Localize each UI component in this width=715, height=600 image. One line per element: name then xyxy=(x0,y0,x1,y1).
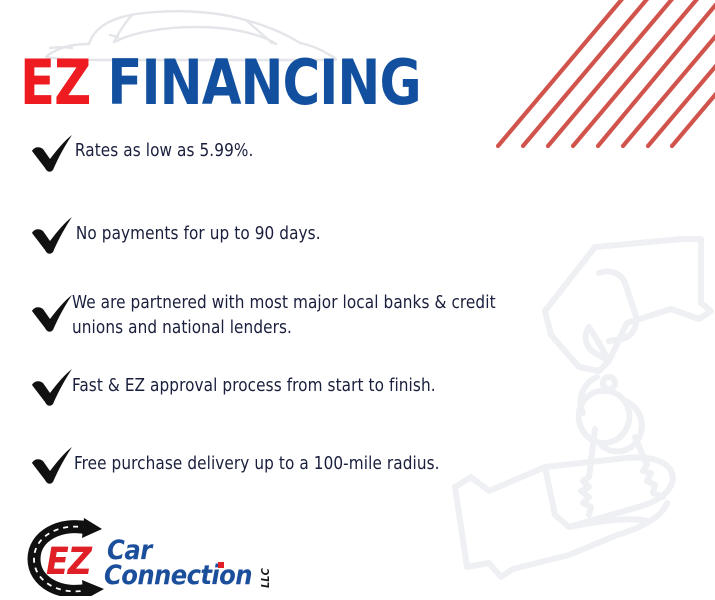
check-icon xyxy=(0,128,72,174)
list-item: Fast & EZ approval process from start to… xyxy=(0,362,540,420)
check-icon xyxy=(0,362,72,408)
logo-ez: EZ xyxy=(46,540,93,583)
list-item-text: Rates as low as 5.99%. xyxy=(72,128,526,164)
page-title: EZ FINANCING xyxy=(20,52,421,114)
list-item-text: Fast & EZ approval process from start to… xyxy=(72,362,526,399)
list-item: We are partnered with most major local b… xyxy=(0,288,540,346)
poster-canvas: EZ FINANCING Rates as low as 5.99%. No p… xyxy=(0,0,715,600)
company-logo[interactable]: EZ Car Connection LLC xyxy=(26,518,288,596)
list-item: Rates as low as 5.99%. xyxy=(0,128,540,186)
page-title-financing: FINANCING xyxy=(107,46,420,119)
logo-i-dot xyxy=(218,562,224,568)
page-title-ez: EZ xyxy=(20,46,90,119)
list-item: Free purchase delivery up to a 100-mile … xyxy=(0,440,540,498)
check-icon xyxy=(0,440,72,486)
logo-llc: LLC xyxy=(259,567,272,588)
list-item-text: No payments for up to 90 days. xyxy=(72,210,526,247)
benefits-list: Rates as low as 5.99%. No payments for u… xyxy=(0,128,540,520)
check-icon xyxy=(0,288,72,334)
list-item: No payments for up to 90 days. xyxy=(0,210,540,268)
list-item-text: Free purchase delivery up to a 100-mile … xyxy=(72,440,526,477)
logo-word-connection: Connection xyxy=(104,560,252,591)
list-item-text: We are partnered with most major local b… xyxy=(72,288,526,341)
check-icon xyxy=(0,210,72,256)
